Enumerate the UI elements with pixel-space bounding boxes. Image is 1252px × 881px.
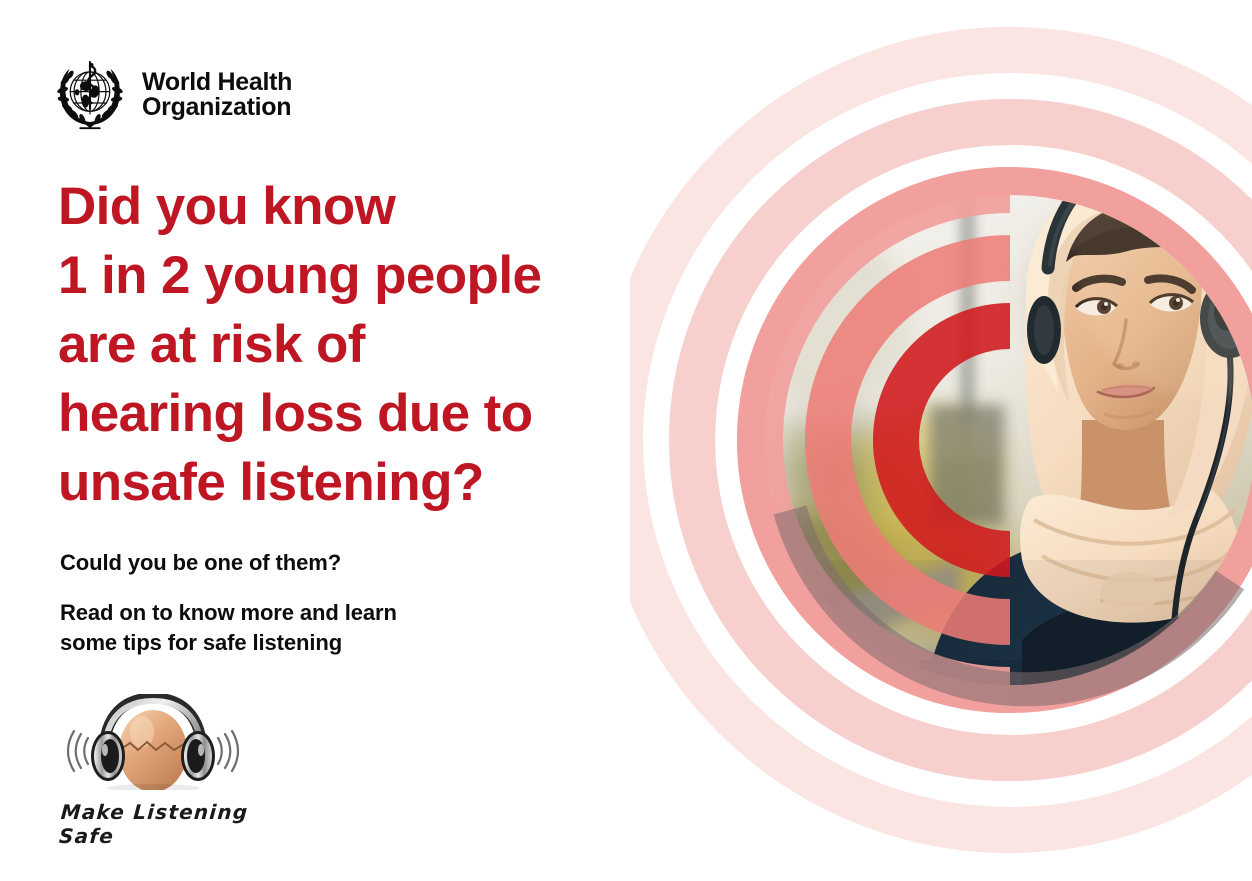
soundwave-left (68, 731, 88, 771)
subhead-question: Could you be one of them? (60, 548, 580, 578)
headline-line-1: Did you know (58, 172, 658, 241)
make-listening-safe-tagline: Make Listening Safe (58, 800, 268, 848)
headphone-earcup-left (1027, 296, 1061, 364)
soundwave-right (218, 731, 238, 771)
sound-wave-graphic (630, 0, 1252, 881)
earcup-left (91, 731, 125, 781)
earcup-right (181, 731, 215, 781)
subhead-call-to-action: Read on to know more and learn some tips… (60, 598, 530, 658)
who-emblem (52, 55, 128, 135)
headline-line-5: unsafe listening? (58, 448, 658, 517)
make-listening-safe-logo: Make Listening Safe (52, 694, 267, 848)
who-logo: World Health Organization (52, 55, 292, 135)
who-wordmark: World Health Organization (142, 70, 292, 121)
headline-line-2: 1 in 2 young people (58, 241, 658, 310)
egg-shape (119, 710, 187, 790)
headline-line-4: hearing loss due to (58, 379, 658, 448)
headline-line-3: are at risk of (58, 310, 658, 379)
egg-headphones-icon (64, 694, 242, 790)
page-title: Did you know 1 in 2 young people are at … (58, 172, 658, 517)
poster-canvas: World Health Organization Did you know 1… (0, 0, 1252, 881)
